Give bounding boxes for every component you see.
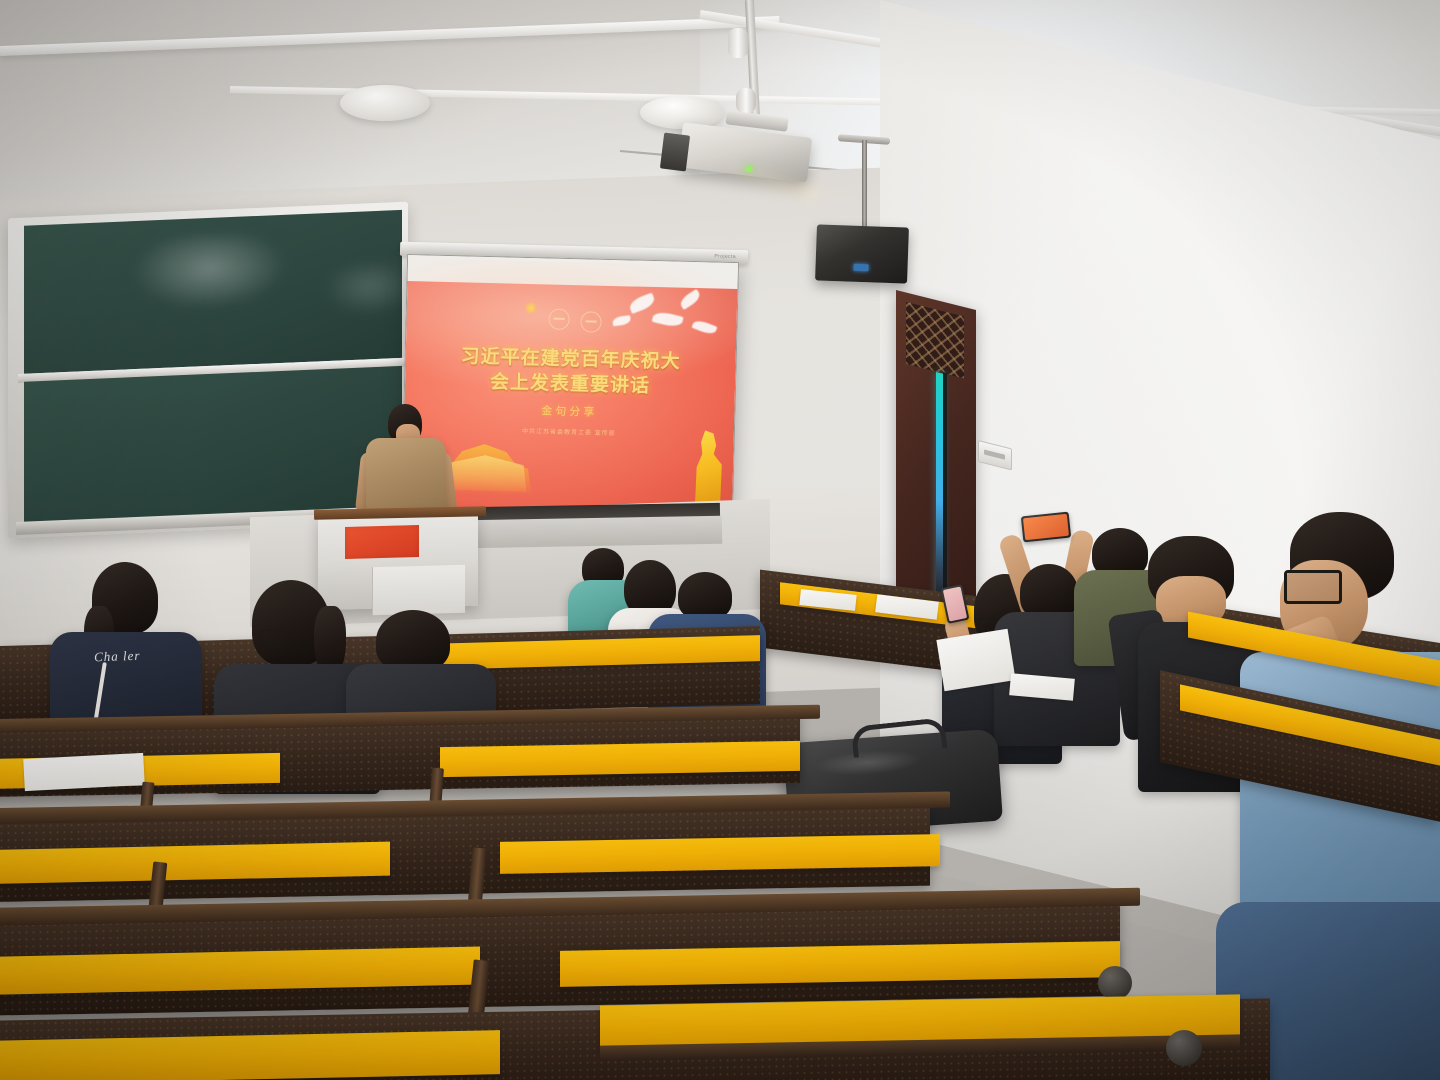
tshirt-script-text: Cha ler xyxy=(94,647,170,664)
ceiling-light-icon xyxy=(640,96,724,129)
front-desk-body xyxy=(468,516,722,548)
projector-mount-knob xyxy=(736,88,756,114)
glasses-icon xyxy=(260,630,284,647)
projector-lens-icon xyxy=(660,133,690,172)
screen-brand-label: Projecta xyxy=(714,253,736,260)
lectern-side-panel xyxy=(372,565,465,615)
desk-row-3-right xyxy=(440,741,800,777)
paper-sheet xyxy=(23,753,145,791)
presenter-torso xyxy=(366,438,446,518)
projector-mount-knob xyxy=(728,28,748,58)
door-gap-shadow xyxy=(943,372,947,605)
blackboard-panel-upper xyxy=(24,210,402,374)
ceiling-light-icon xyxy=(340,85,430,121)
blackboard-panel-lower xyxy=(24,366,402,524)
door-light-strip xyxy=(936,372,943,606)
blackboard[interactable] xyxy=(8,202,408,539)
lectern-red-panel xyxy=(345,525,419,559)
caster-wheel-icon xyxy=(1098,966,1132,1000)
glasses-icon xyxy=(1284,570,1342,604)
smartphone[interactable] xyxy=(1021,512,1071,543)
paper-sheet xyxy=(936,629,1015,692)
wall-speaker xyxy=(815,224,909,283)
lecture-hall-photo: Projecta 习近平在建党百年庆祝大 会上发表重要讲话 金句分享 中共江苏省… xyxy=(0,0,1440,1080)
blackboard-glare xyxy=(324,261,416,317)
person-hair xyxy=(678,572,732,620)
speaker-rod xyxy=(862,140,867,228)
blackboard-glare xyxy=(134,233,284,311)
caster-wheel-icon xyxy=(1166,1030,1202,1066)
person-hair xyxy=(376,610,450,672)
